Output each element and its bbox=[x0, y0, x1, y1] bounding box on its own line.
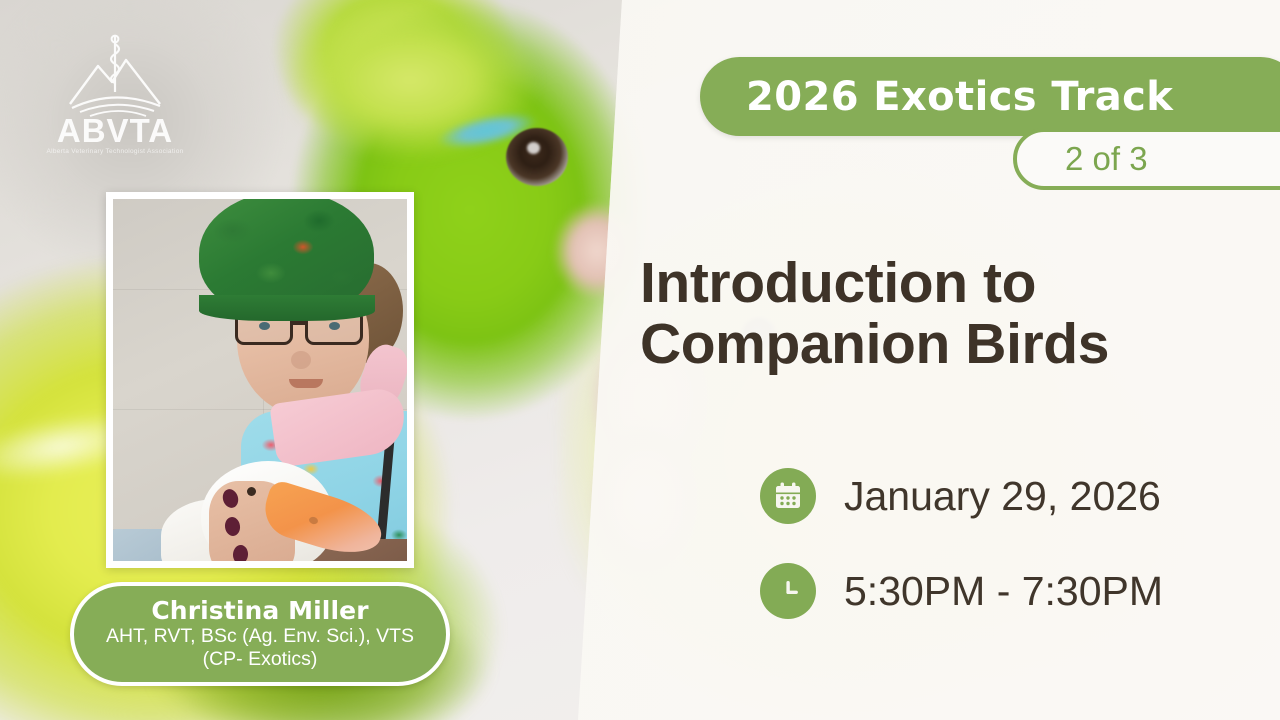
speaker-name: Christina Miller bbox=[151, 598, 368, 625]
abvta-logo: ABVTA Alberta Veterinary Technologist As… bbox=[40, 30, 190, 170]
logo-subtitle: Alberta Veterinary Technologist Associat… bbox=[40, 148, 190, 155]
track-badge: 2026 Exotics Track bbox=[700, 57, 1280, 136]
clock-icon-glyph bbox=[772, 575, 804, 607]
track-badge-label: 2026 Exotics Track bbox=[746, 74, 1173, 120]
speaker-nose bbox=[291, 351, 311, 369]
background-bird-primary-eye-highlight bbox=[527, 142, 540, 154]
speaker-mouth bbox=[289, 379, 323, 388]
page-title: Introduction to Companion Birds bbox=[640, 253, 1260, 375]
page-title-line-1: Introduction to bbox=[640, 251, 1036, 315]
session-count-pill: 2 of 3 bbox=[1013, 128, 1280, 190]
calendar-icon bbox=[760, 468, 816, 524]
clock-icon bbox=[760, 563, 816, 619]
event-date: January 29, 2026 bbox=[844, 473, 1161, 520]
fingernail bbox=[232, 545, 248, 562]
speaker-nameplate: Christina Miller AHT, RVT, BSc (Ag. Env.… bbox=[70, 582, 450, 686]
speaker-photo bbox=[113, 199, 407, 561]
mountain-caduceus-logo-icon: ABVTA bbox=[40, 30, 190, 150]
glasses-bridge bbox=[293, 321, 305, 325]
speaker-eye-right bbox=[329, 322, 340, 330]
session-count-label: 2 of 3 bbox=[1065, 140, 1148, 178]
event-promo-slide: ABVTA Alberta Veterinary Technologist As… bbox=[0, 0, 1280, 720]
speaker-credentials: AHT, RVT, BSc (Ag. Env. Sci.), VTS (CP- … bbox=[90, 625, 430, 670]
svg-text:ABVTA: ABVTA bbox=[57, 112, 173, 149]
event-time-row: 5:30PM - 7:30PM bbox=[760, 560, 1163, 622]
event-time: 5:30PM - 7:30PM bbox=[844, 568, 1163, 615]
event-meta: January 29, 2026 5:30PM - 7:30PM bbox=[760, 465, 1163, 655]
calendar-icon-glyph bbox=[772, 480, 804, 512]
duck-eye bbox=[247, 487, 256, 496]
surgical-cap-band bbox=[199, 295, 375, 321]
background-bird-primary-eye bbox=[506, 128, 568, 186]
speaker-photo-frame bbox=[106, 192, 414, 568]
event-date-row: January 29, 2026 bbox=[760, 465, 1163, 527]
speaker-eye-left bbox=[259, 322, 270, 330]
page-title-line-2: Companion Birds bbox=[640, 314, 1260, 375]
